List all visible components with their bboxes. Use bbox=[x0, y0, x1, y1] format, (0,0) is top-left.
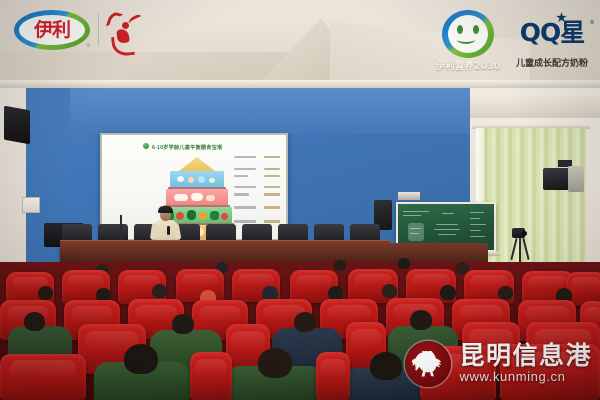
pagoda-tier-dairy-soy bbox=[170, 171, 224, 188]
nutrition-face bbox=[448, 15, 488, 53]
tripod-leg bbox=[519, 238, 521, 262]
legend-value bbox=[264, 206, 280, 208]
handheld-microphone bbox=[167, 226, 170, 235]
nutrition-2030-wordmark: 伊利营养2030 bbox=[426, 58, 510, 72]
nutrition-smile bbox=[457, 35, 475, 44]
legend-label bbox=[234, 193, 249, 195]
qq-star-tagline: 儿童成长配方奶粉 bbox=[508, 56, 596, 69]
yili-registered-mark: ® bbox=[86, 43, 90, 49]
student-head bbox=[24, 312, 45, 331]
qq-star-logo: QQ星 ® 儿童成长配方奶粉 bbox=[508, 8, 596, 76]
runner-leg bbox=[111, 35, 135, 57]
qq-registered-mark: ® bbox=[590, 20, 594, 26]
ceiling-projector bbox=[398, 192, 420, 200]
legend-value bbox=[264, 186, 280, 188]
student-head bbox=[328, 286, 343, 300]
legend-value bbox=[264, 168, 280, 170]
camera-lens bbox=[522, 231, 527, 236]
student-head bbox=[410, 310, 432, 330]
legend-label bbox=[234, 156, 256, 158]
wall-mounted-loudspeaker-right bbox=[543, 168, 571, 190]
speaker-grille bbox=[568, 166, 584, 192]
legend-label bbox=[234, 206, 256, 208]
pagoda-tier-salt-oil bbox=[179, 157, 215, 171]
yili-runner-mark bbox=[104, 8, 148, 54]
nutrition-eye-left bbox=[457, 25, 463, 34]
student-head bbox=[172, 314, 194, 334]
auditorium-seat bbox=[190, 352, 232, 400]
legend-label bbox=[234, 175, 248, 177]
student-head bbox=[398, 258, 410, 269]
legend-row bbox=[234, 174, 280, 178]
logo-divider bbox=[98, 14, 99, 46]
auditorium-seat bbox=[316, 352, 350, 400]
student-head bbox=[370, 352, 402, 380]
legend-value bbox=[264, 156, 280, 158]
runner-arm-right bbox=[127, 13, 143, 26]
presenter-cap bbox=[158, 206, 173, 213]
student-head bbox=[382, 284, 397, 298]
site-url: www.kunming.cn bbox=[459, 369, 592, 385]
legend-label bbox=[234, 168, 256, 170]
yili-wordmark: 伊利 bbox=[14, 16, 90, 44]
wall-outlet-panel bbox=[22, 197, 40, 213]
student-head bbox=[294, 312, 316, 332]
legend-row bbox=[234, 155, 280, 159]
student-head bbox=[152, 284, 167, 298]
student-head bbox=[498, 286, 513, 300]
runner-head bbox=[122, 22, 129, 29]
student-head bbox=[258, 348, 292, 378]
photograph: 伊利 ® 伊利营养2030 QQ星 ® 儿童成长配方奶粉 6-10岁学龄儿童平衡… bbox=[0, 0, 600, 400]
legend-row bbox=[234, 185, 280, 189]
student-head bbox=[124, 344, 158, 374]
legend-value bbox=[264, 175, 280, 177]
pagoda-tier-meat-fish-egg bbox=[166, 189, 228, 206]
qq-star-wordmark: QQ星 bbox=[510, 16, 594, 50]
kunming-horse-seal-icon bbox=[405, 341, 451, 387]
runner-arm-left bbox=[106, 10, 124, 30]
student-head bbox=[440, 285, 456, 300]
nutrition-eye-right bbox=[473, 25, 479, 34]
auditorium-seat bbox=[0, 354, 86, 400]
legend-row bbox=[234, 219, 280, 223]
right-wall-cornice bbox=[470, 96, 600, 118]
student-head bbox=[334, 260, 346, 271]
nutrition-seal-icon bbox=[142, 142, 150, 150]
legend-label bbox=[234, 220, 256, 222]
watermark: 昆明信息港 www.kunming.cn bbox=[405, 338, 592, 390]
yili-nutrition-2030-logo: 伊利营养2030 bbox=[426, 8, 510, 76]
horse-glyph bbox=[412, 351, 444, 377]
legend-value bbox=[264, 193, 280, 195]
student-head bbox=[38, 286, 53, 300]
yili-corporate-logo: 伊利 ® bbox=[14, 10, 90, 50]
legend-label bbox=[234, 186, 256, 188]
legend-row bbox=[234, 192, 280, 196]
legend-row bbox=[234, 167, 280, 171]
watermark-text: 昆明信息港 www.kunming.cn bbox=[459, 343, 592, 385]
legend-value bbox=[264, 220, 280, 222]
legend-row bbox=[234, 205, 280, 209]
site-name: 昆明信息港 bbox=[459, 343, 592, 369]
wall-mounted-loudspeaker-left bbox=[4, 106, 30, 145]
slide-title: 6-10岁学龄儿童平衡膳食宝塔 bbox=[152, 144, 222, 151]
slide-legend bbox=[234, 155, 280, 227]
